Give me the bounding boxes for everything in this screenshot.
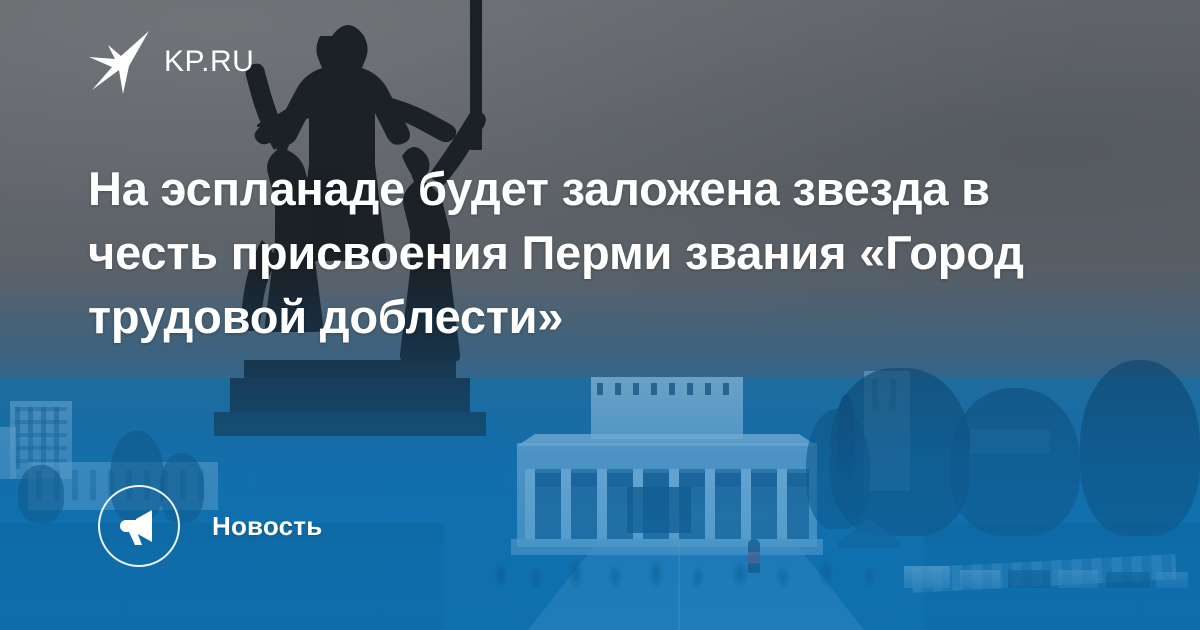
swallow-bird-icon (88, 28, 150, 96)
brand-lockup[interactable]: KP.RU (88, 28, 254, 96)
overlay-content: KP.RU На эспланаде будет заложена звезда… (0, 0, 1200, 630)
status-badge[interactable]: Новость (98, 485, 322, 567)
page-title: На эспланаде будет заложена звезда в чес… (88, 157, 1088, 349)
megaphone-icon (118, 505, 160, 547)
news-card: KP.RU На эспланаде будет заложена звезда… (0, 0, 1200, 630)
brand-name: KP.RU (164, 47, 254, 77)
badge-circle (98, 485, 180, 567)
badge-label: Новость (212, 511, 322, 542)
